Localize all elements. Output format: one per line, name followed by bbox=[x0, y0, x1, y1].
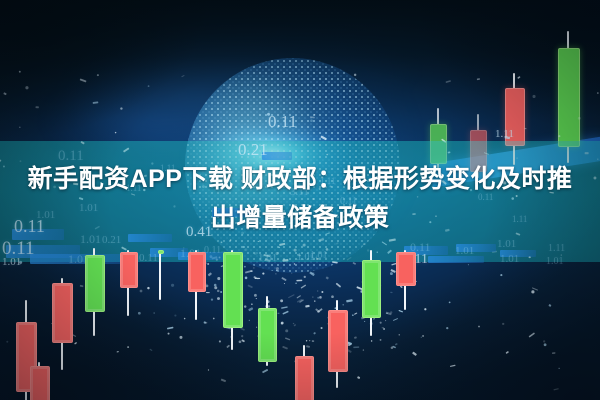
news-banner-image: 0.110.110.211.111.011.111.111.011.010.11… bbox=[0, 0, 600, 400]
headline: 新手配资APP下载 财政部：根据形势变化及时推 出增量储备政策 bbox=[0, 160, 600, 238]
headline-line-2: 出增量储备政策 bbox=[0, 199, 600, 238]
headline-line-1: 新手配资APP下载 财政部：根据形势变化及时推 bbox=[28, 165, 573, 193]
